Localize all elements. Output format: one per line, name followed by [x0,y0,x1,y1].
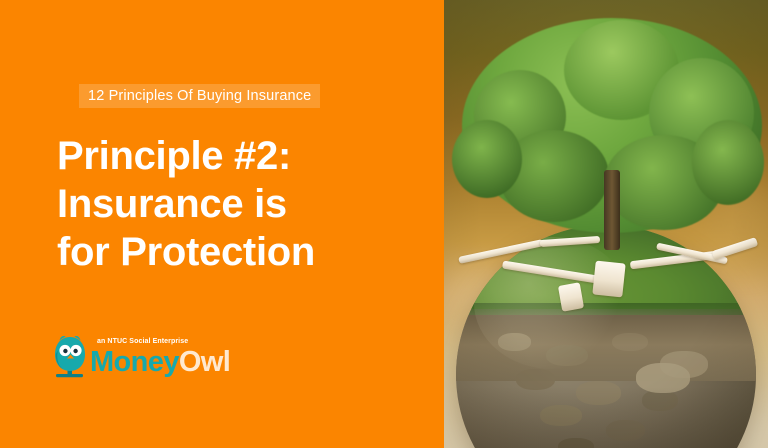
canopy-cluster [692,120,764,205]
moneyowl-logo[interactable]: an NTUC Social Enterprise MoneyOwl [53,331,203,383]
sphere-highlight [474,237,630,369]
logo-wordmark: MoneyOwl [90,348,230,377]
logo-tagline: an NTUC Social Enterprise [97,338,188,345]
series-badge: 12 Principles Of Buying Insurance [79,84,320,108]
canopy-cluster [452,120,522,198]
left-content-panel: 12 Principles Of Buying Insurance Princi… [0,0,444,448]
tree-trunk [604,170,620,250]
series-badge-label: 12 Principles Of Buying Insurance [88,89,311,104]
shell-fragment [558,282,584,311]
headline-line-2: Insurance is [57,180,427,228]
page-title: Principle #2: Insurance is for Protectio… [57,132,427,276]
headline-line-3: for Protection [57,228,427,276]
headline-line-1: Principle #2: [57,132,427,180]
logo-wordmark-money: Money [90,346,179,378]
shell-fragment [592,261,625,298]
logo-wordmark-owl: Owl [179,346,230,378]
owl-mascot-icon [53,333,89,381]
sphere-shading [456,387,756,448]
insurance-principle-banner: 12 Principles Of Buying Insurance Princi… [0,0,768,448]
hero-photo [444,0,768,448]
